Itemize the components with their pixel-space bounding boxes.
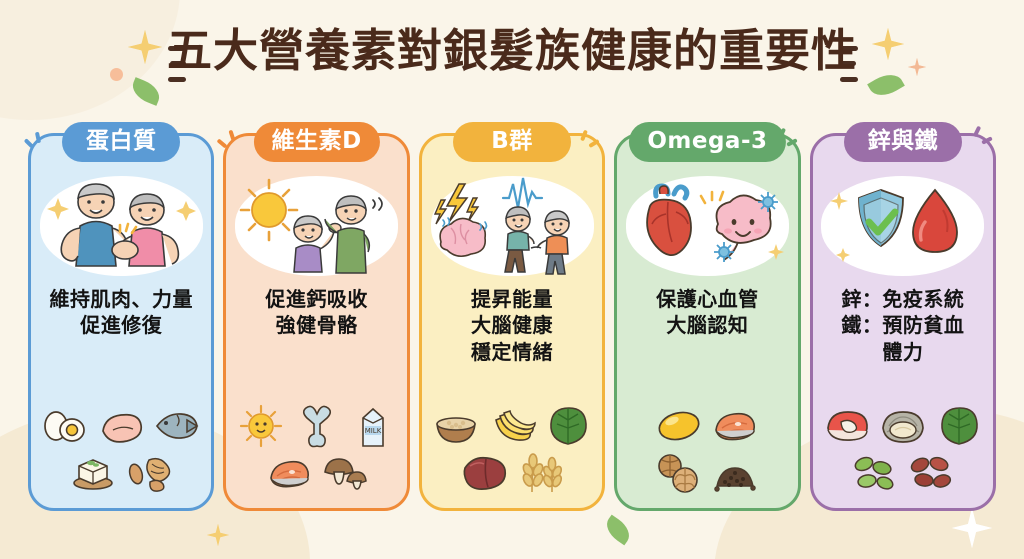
illustration-heart-and-smiling-brain: [626, 176, 789, 276]
spinach-icon: [544, 404, 592, 448]
sun-icon: [237, 404, 285, 448]
food-icon-group-zinc-iron: [813, 404, 993, 494]
walnuts-icon: [655, 450, 703, 494]
desc-line: 鐵：預防貧血: [841, 312, 964, 338]
badge-sparkle-lines: [27, 128, 53, 154]
desc-line: 保護心血管: [656, 286, 759, 312]
nutrient-card-omega-3[interactable]: Omega-3: [614, 133, 800, 511]
sparkle-yellow-bottom-left: [207, 524, 229, 546]
desc-line: 穩定情緒: [471, 339, 553, 365]
illustration-seniors-flexing: [40, 176, 203, 276]
chicken-breast-icon: [97, 404, 145, 448]
grain-bowl-icon: [432, 404, 480, 448]
leaf-bottom-center: [601, 515, 634, 546]
card-badge-omega-3: Omega-3: [629, 122, 785, 162]
oyster-icon: [879, 404, 927, 448]
page-title-container: 五大營養素對銀髮族健康的重要性: [0, 28, 1024, 73]
tofu-icon: [69, 450, 117, 494]
badge-sparkle-lines: [582, 126, 608, 152]
food-row: [265, 450, 369, 494]
fish-oil-capsule-icon: [655, 404, 703, 448]
desc-line: 促進鈣吸收: [265, 286, 368, 312]
card-badge-protein: 蛋白質: [62, 122, 180, 162]
chia-seeds-icon: [711, 450, 759, 494]
food-icon-group-omega-3: [617, 404, 797, 494]
page-title: 五大營養素對銀髮族健康的重要性: [167, 28, 857, 73]
desc-line: 促進修復: [49, 312, 193, 338]
food-row: [655, 404, 759, 448]
nuts-icon: [125, 450, 173, 494]
red-meat-steak-icon: [823, 404, 871, 448]
food-icon-group-b-vitamins: [422, 404, 602, 494]
illustration-brain-energy-and-walking-seniors: [431, 176, 594, 276]
nutrient-card-zinc-iron[interactable]: 鋅與鐵 鋅：免疫系統 鐵：預防貧血 體力: [810, 133, 996, 511]
leaf-top-right: [867, 68, 905, 101]
milk-carton-icon: MILK: [349, 404, 397, 448]
card-description-protein: 維持肌肉、力量 促進修復: [45, 286, 197, 339]
desc-line: 維持肌肉、力量: [49, 286, 193, 312]
mushrooms-icon: [321, 450, 369, 494]
fish-icon: [153, 404, 201, 448]
wheat-ears-icon: [516, 450, 564, 494]
desc-line: 提昇能量: [471, 286, 553, 312]
card-description-vitamin-d: 促進鈣吸收 強健骨骼: [261, 286, 372, 339]
food-row: [41, 404, 201, 448]
kidney-beans-icon: [907, 450, 955, 494]
badge-sparkle-lines: [220, 126, 246, 152]
desc-line: 大腦認知: [656, 312, 759, 338]
nutrient-card-row: 蛋白質: [28, 133, 996, 511]
food-icon-group-vitamin-d: MILK: [226, 404, 406, 494]
card-description-b-vitamins: 提昇能量 大腦健康 穩定情緒: [467, 286, 557, 365]
card-badge-b-vitamins: B群: [453, 122, 571, 162]
food-row: [432, 404, 592, 448]
boiled-egg-icon: [41, 404, 89, 448]
salmon-steak-icon: [265, 450, 313, 494]
food-row: [851, 450, 955, 494]
card-badge-vitamin-d: 維生素D: [254, 122, 380, 162]
edamame-icon: [851, 450, 899, 494]
food-row: [823, 404, 983, 448]
desc-line: 體力: [841, 339, 964, 365]
food-row: [69, 450, 173, 494]
card-description-omega-3: 保護心血管 大腦認知: [652, 286, 763, 339]
desc-line: 強健骨骼: [265, 312, 368, 338]
nutrient-card-vitamin-d[interactable]: 維生素D: [223, 133, 409, 511]
food-row: [460, 450, 564, 494]
desc-line: 大腦健康: [471, 312, 553, 338]
card-badge-zinc-iron: 鋅與鐵: [844, 122, 962, 162]
badge-sparkle-lines: [975, 124, 1001, 150]
nutrient-card-protein[interactable]: 蛋白質: [28, 133, 214, 511]
salmon-steak-icon: [711, 404, 759, 448]
leaf-top-left: [129, 77, 164, 106]
bone-icon: [293, 404, 341, 448]
illustration-sun-and-stretching-seniors: [235, 176, 398, 276]
food-row: [655, 450, 759, 494]
card-description-zinc-iron: 鋅：免疫系統 鐵：預防貧血 體力: [837, 286, 968, 365]
spinach-icon: [935, 404, 983, 448]
food-row: MILK: [237, 404, 397, 448]
food-icon-group-protein: [31, 404, 211, 494]
illustration-shield-and-blood-drop: [821, 176, 984, 276]
nutrient-card-b-vitamins[interactable]: B群: [419, 133, 605, 511]
liver-icon: [460, 450, 508, 494]
svg-text:MILK: MILK: [364, 427, 381, 435]
bananas-icon: [488, 404, 536, 448]
desc-line: 鋅：免疫系統: [841, 286, 964, 312]
sparkle-white-bottom-right: [952, 508, 992, 548]
